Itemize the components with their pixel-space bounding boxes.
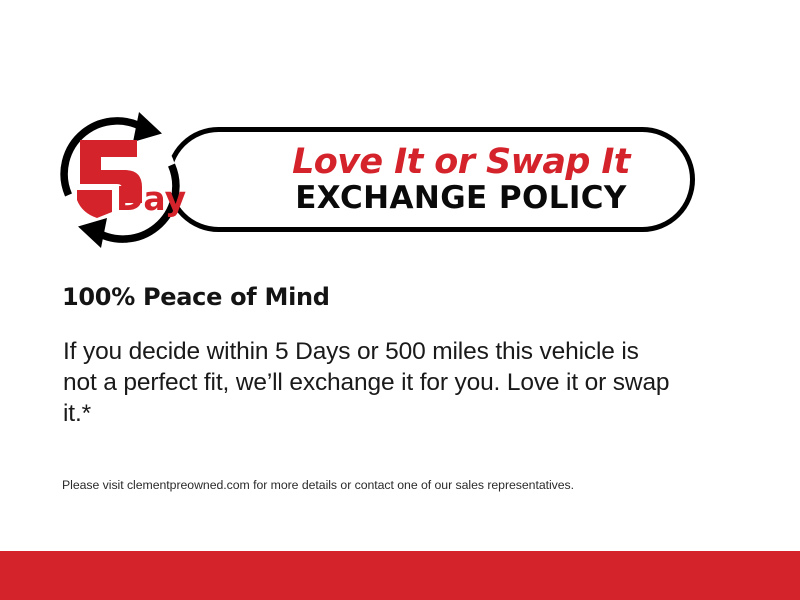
headline-primary: Love It or Swap It [292,145,630,181]
exchange-policy-badge: Love It or Swap It EXCHANGE POLICY [52,100,652,260]
logo-day-label: Day [116,179,186,218]
policy-paragraph: If you decide within 5 Days or 500 miles… [63,336,675,429]
peace-of-mind-heading: 100% Peace of Mind [62,283,330,311]
headline-secondary: EXCHANGE POLICY [295,182,627,215]
fine-print-disclaimer: Please visit clementpreowned.com for mor… [62,478,762,492]
bottom-accent-bar [0,551,800,600]
headline-text-group: Love It or Swap It EXCHANGE POLICY [231,132,691,227]
five-day-logo: Day [52,100,212,260]
headline-pill: Love It or Swap It EXCHANGE POLICY [166,127,695,232]
